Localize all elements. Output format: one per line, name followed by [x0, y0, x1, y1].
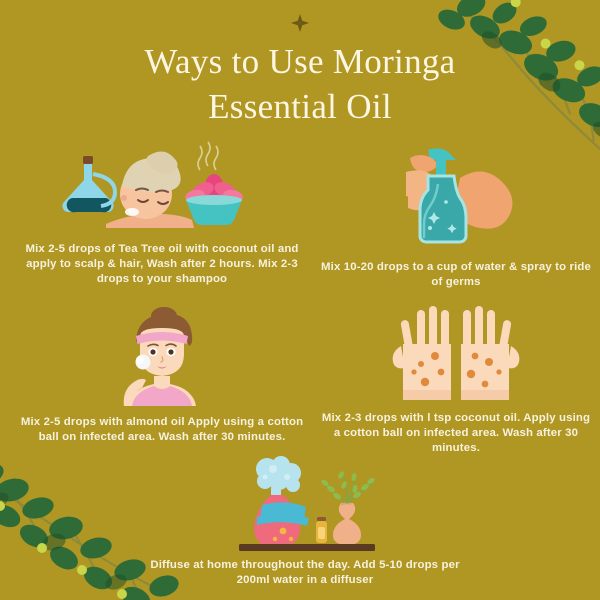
- page-title-line-1: Ways to Use Moringa: [0, 40, 600, 85]
- tip-diffuser: Diffuse at home throughout the day. Add …: [150, 455, 460, 588]
- infographic-poster: Ways to Use Moringa Essential Oil: [0, 0, 600, 600]
- aroma-diffuser-with-vase-and-oil-bottle-icon: [150, 455, 460, 551]
- tip-germ-spray: Mix 10-20 drops to a cup of water & spra…: [318, 138, 594, 290]
- tip-face-treatment-text: Mix 2-5 drops with almond oil Apply usin…: [12, 415, 312, 445]
- page-title-line-2: Essential Oil: [0, 85, 600, 130]
- tip-hair-scalp-text: Mix 2-5 drops of Tea Tree oil with cocon…: [12, 242, 312, 287]
- four-petal-diamond-ornament-icon: [291, 14, 309, 32]
- tip-diffuser-text: Diffuse at home throughout the day. Add …: [150, 558, 460, 588]
- hand-holding-spray-bottle-icon: [318, 138, 594, 246]
- tip-hands-treatment: Mix 2-3 drops with l tsp coconut oil. Ap…: [318, 306, 594, 456]
- tip-hair-scalp: Mix 2-5 drops of Tea Tree oil with cocon…: [12, 138, 312, 287]
- two-hands-with-spots-icon: [318, 306, 594, 402]
- page-title: Ways to Use Moringa Essential Oil: [0, 40, 600, 130]
- tip-face-treatment: Mix 2-5 drops with almond oil Apply usin…: [12, 306, 312, 445]
- spa-oil-bottle-woman-towel-lotus-bowl-icon: [12, 138, 312, 236]
- woman-applying-cotton-ball-to-face-icon: [12, 306, 312, 406]
- tip-germ-spray-text: Mix 10-20 drops to a cup of water & spra…: [318, 260, 594, 290]
- tip-hands-treatment-text: Mix 2-3 drops with l tsp coconut oil. Ap…: [318, 411, 594, 456]
